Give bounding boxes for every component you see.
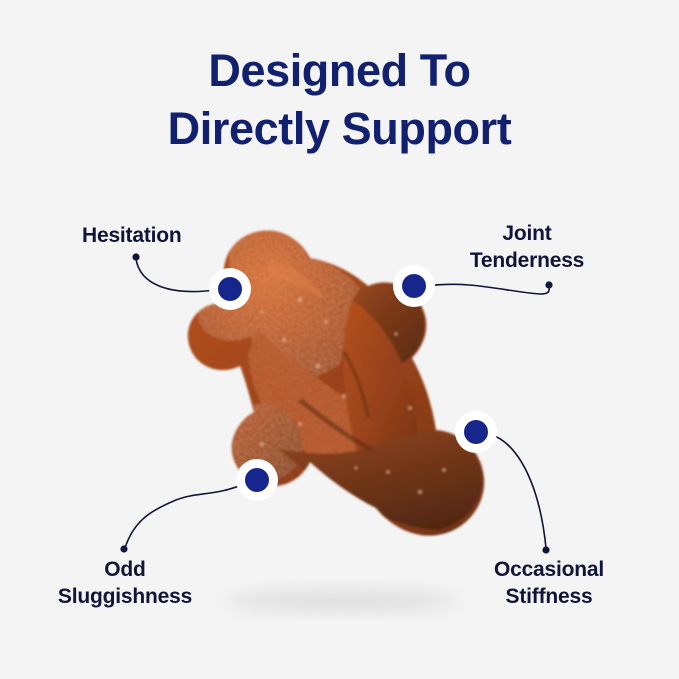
callout-odd-sluggishness-line-2: Sluggishness xyxy=(35,583,215,610)
callout-odd-sluggishness-line-1: Odd xyxy=(35,556,215,583)
connector-hesitation xyxy=(136,259,216,292)
marker-hesitation[interactable] xyxy=(209,268,251,310)
callout-label-odd-sluggishness: Odd Sluggishness xyxy=(35,556,215,610)
callout-hesitation-line-1: Hesitation xyxy=(82,222,182,249)
callout-occasional-stiffness-line-2: Stiffness xyxy=(470,583,628,610)
callout-joint-tenderness-line-2: Tenderness xyxy=(444,247,610,274)
callout-label-joint-tenderness: Joint Tenderness xyxy=(444,220,610,274)
end-dot-joint-tenderness xyxy=(545,281,552,288)
connector-occasional-stiffness xyxy=(490,434,546,548)
marker-occasional-stiffness[interactable] xyxy=(455,411,497,453)
end-dot-hesitation xyxy=(132,253,139,260)
infographic-panel: Designed To Directly Support xyxy=(0,0,679,679)
connector-odd-sluggishness xyxy=(125,484,244,548)
treat-shadow xyxy=(226,591,458,611)
connector-joint-tenderness xyxy=(428,284,549,294)
marker-odd-sluggishness[interactable] xyxy=(236,459,278,501)
callout-occasional-stiffness-line-1: Occasional xyxy=(470,556,628,583)
callout-joint-tenderness-line-1: Joint xyxy=(444,220,610,247)
callout-label-occasional-stiffness: Occasional Stiffness xyxy=(470,556,628,610)
end-dot-odd-sluggishness xyxy=(120,545,127,552)
end-dot-occasional-stiffness xyxy=(542,546,549,553)
callout-label-hesitation: Hesitation xyxy=(82,222,182,249)
marker-joint-tenderness[interactable] xyxy=(393,265,435,307)
